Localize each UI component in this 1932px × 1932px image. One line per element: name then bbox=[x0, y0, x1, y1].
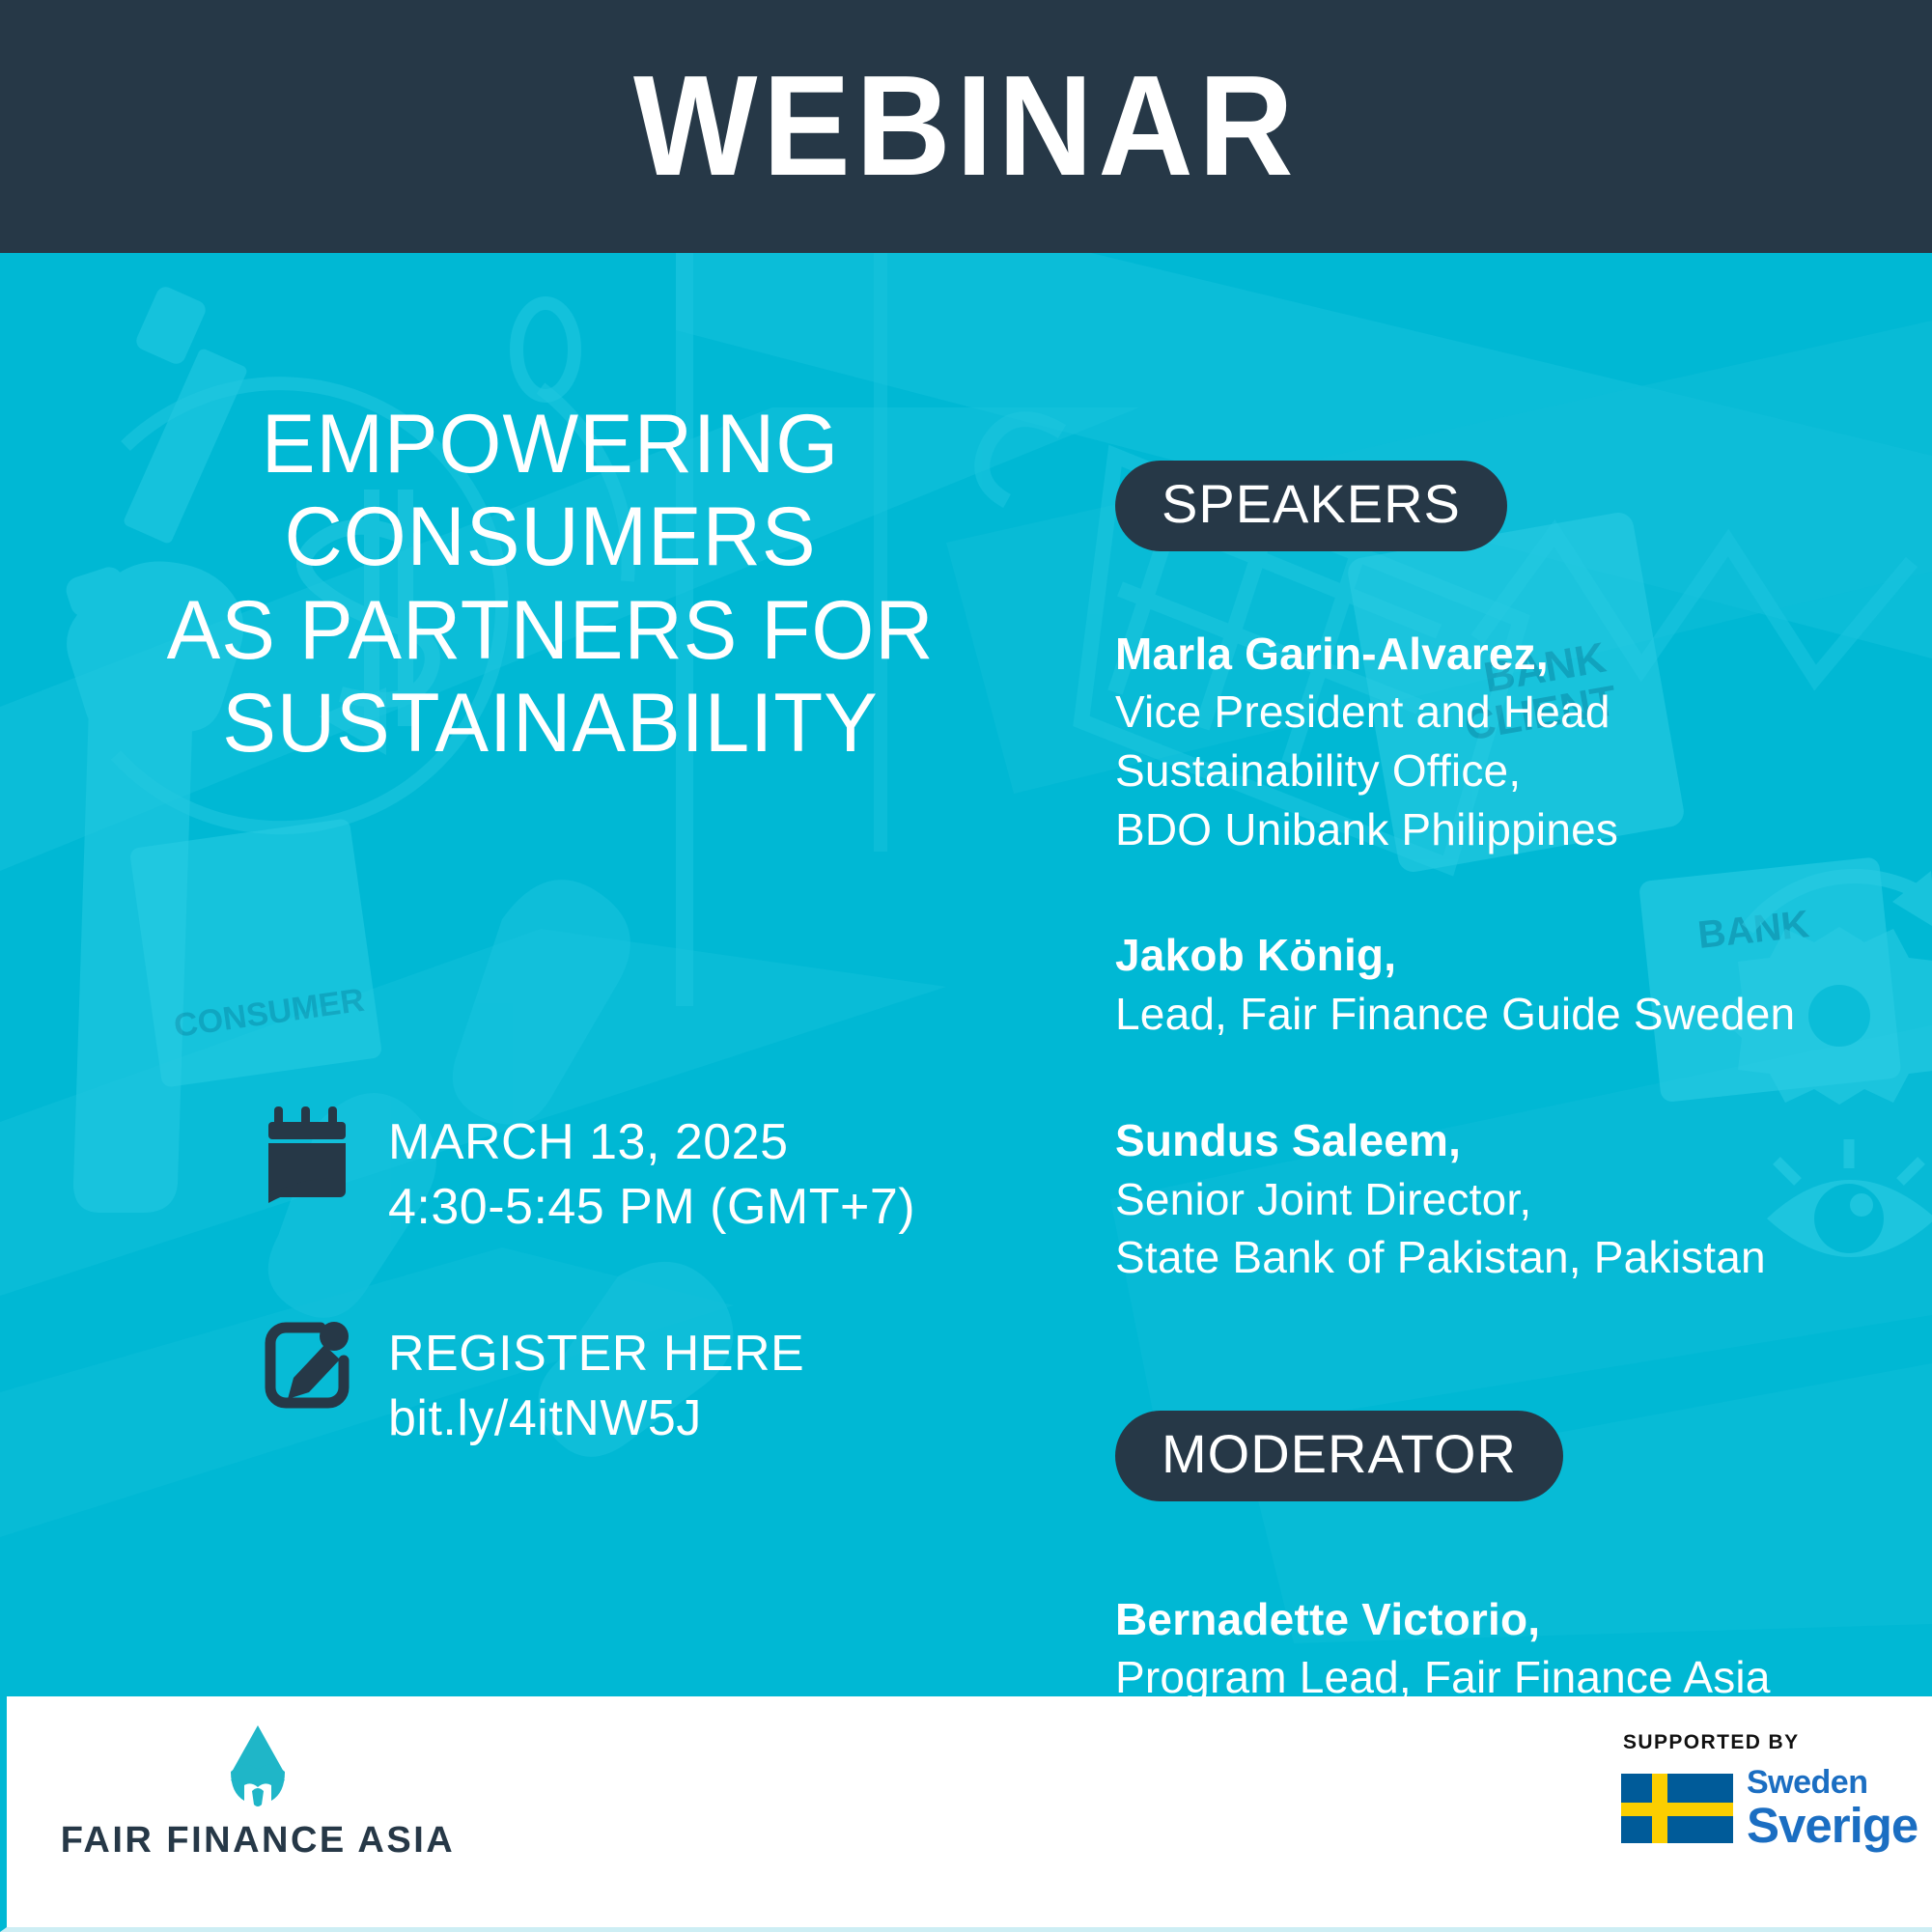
date-time-row: MARCH 13, 2025 4:30-5:45 PM (GMT+7) bbox=[261, 1103, 1062, 1239]
fair-finance-asia-droplet-icon bbox=[219, 1723, 296, 1806]
moderator-badge: MODERATOR bbox=[1115, 1411, 1563, 1501]
speaker-name: Marla Garin-Alvarez, bbox=[1115, 625, 1888, 684]
speakers-list: Marla Garin-Alvarez, Vice President and … bbox=[1115, 625, 1888, 1287]
event-time: 4:30-5:45 PM (GMT+7) bbox=[388, 1175, 915, 1240]
moderator-list: Bernadette Victorio, Program Lead, Fair … bbox=[1115, 1590, 1888, 1696]
edit-square-pencil-icon bbox=[261, 1314, 353, 1414]
event-info-block: MARCH 13, 2025 4:30-5:45 PM (GMT+7) bbox=[39, 1103, 1062, 1526]
speaker-item: Marla Garin-Alvarez, Vice President and … bbox=[1115, 625, 1888, 859]
header-band: WEBINAR bbox=[0, 0, 1932, 253]
main-content-area: BANK CLIENT BANK bbox=[0, 253, 1932, 1696]
speakers-badge: SPEAKERS bbox=[1115, 461, 1507, 551]
moderator-name: Bernadette Victorio, bbox=[1115, 1590, 1888, 1649]
register-url[interactable]: bit.ly/4itNW5J bbox=[388, 1386, 804, 1451]
event-date: MARCH 13, 2025 bbox=[388, 1110, 915, 1175]
consumer-card-icon: CONSUMER bbox=[129, 818, 383, 1088]
speaker-role-line: Lead, Fair Finance Guide Sweden bbox=[1115, 985, 1888, 1044]
speaker-role-line: BDO Unibank Philippines bbox=[1115, 800, 1888, 859]
speaker-item: Sundus Saleem, Senior Joint Director, St… bbox=[1115, 1111, 1888, 1287]
moderator-role: Program Lead, Fair Finance Asia bbox=[1115, 1648, 1888, 1696]
speaker-role-line: Senior Joint Director, bbox=[1115, 1170, 1888, 1229]
speaker-role-line: State Bank of Pakistan, Pakistan bbox=[1115, 1228, 1888, 1287]
webinar-poster: WEBINAR bbox=[0, 0, 1932, 1932]
poster-title: EMPOWERING CONSUMERS AS PARTNERS FOR SUS… bbox=[54, 398, 1047, 770]
page-title: WEBINAR bbox=[633, 55, 1299, 198]
sponsor-name-sv: Sverige bbox=[1747, 1801, 1918, 1850]
calendar-icon bbox=[261, 1103, 353, 1203]
register-label: REGISTER HERE bbox=[388, 1322, 804, 1386]
title-line-1: EMPOWERING bbox=[54, 398, 1047, 490]
speaker-role-line: Vice President and Head bbox=[1115, 683, 1888, 742]
organization-name: FAIR FINANCE ASIA bbox=[61, 1820, 455, 1862]
moderator-item: Bernadette Victorio, Program Lead, Fair … bbox=[1115, 1590, 1888, 1696]
moderator-role-line: Program Lead, Fair Finance Asia bbox=[1115, 1648, 1888, 1696]
speaker-name: Jakob König, bbox=[1115, 926, 1888, 985]
speaker-role: Senior Joint Director, State Bank of Pak… bbox=[1115, 1170, 1888, 1287]
speaker-item: Jakob König, Lead, Fair Finance Guide Sw… bbox=[1115, 926, 1888, 1043]
footer-band: FAIR FINANCE ASIA SUPPORTED BY Sweden Sv… bbox=[0, 1696, 1932, 1932]
supported-by-label: SUPPORTED BY bbox=[1623, 1731, 1911, 1754]
speaker-role-line: Sustainability Office, bbox=[1115, 742, 1888, 800]
register-row[interactable]: REGISTER HERE bit.ly/4itNW5J bbox=[261, 1314, 1062, 1450]
right-column: SPEAKERS Marla Garin-Alvarez, Vice Presi… bbox=[1115, 461, 1888, 1696]
sweden-logo: Sweden Sverige bbox=[1621, 1766, 1911, 1850]
moderator-section: MODERATOR Bernadette Victorio, Program L… bbox=[1115, 1411, 1888, 1696]
fair-finance-asia-logo: FAIR FINANCE ASIA bbox=[55, 1723, 461, 1862]
title-line-4: SUSTAINABILITY bbox=[54, 677, 1047, 770]
left-column: EMPOWERING CONSUMERS AS PARTNERS FOR SUS… bbox=[39, 398, 1062, 770]
register-text[interactable]: REGISTER HERE bit.ly/4itNW5J bbox=[388, 1314, 804, 1450]
speaker-role: Lead, Fair Finance Guide Sweden bbox=[1115, 985, 1888, 1044]
sponsor-name-en: Sweden bbox=[1747, 1766, 1918, 1799]
sweden-wordmark: Sweden Sverige bbox=[1747, 1766, 1918, 1850]
date-time-text: MARCH 13, 2025 4:30-5:45 PM (GMT+7) bbox=[388, 1103, 915, 1239]
title-line-3: AS PARTNERS FOR bbox=[54, 584, 1047, 677]
speaker-role: Vice President and Head Sustainability O… bbox=[1115, 683, 1888, 858]
speaker-name: Sundus Saleem, bbox=[1115, 1111, 1888, 1170]
sponsor-block: SUPPORTED BY Sweden Sverige bbox=[1621, 1731, 1911, 1850]
title-line-2: CONSUMERS bbox=[54, 490, 1047, 583]
sweden-flag-icon bbox=[1621, 1774, 1733, 1843]
